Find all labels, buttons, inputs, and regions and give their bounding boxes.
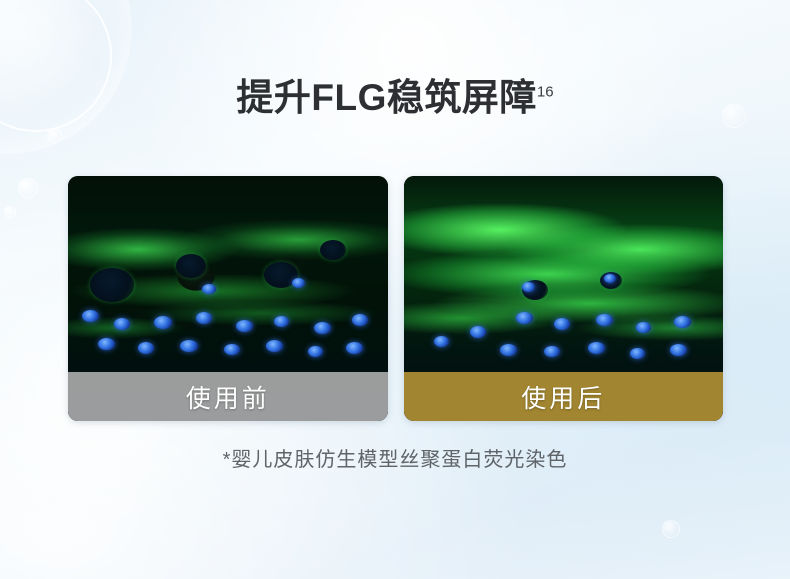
page-title-text: 提升FLG稳筑屏障 bbox=[236, 77, 536, 118]
caption-bar-after: 使用后 bbox=[404, 372, 724, 421]
cell-nucleus bbox=[500, 344, 517, 356]
cell-nucleus bbox=[470, 326, 486, 338]
cell-nucleus bbox=[544, 346, 560, 357]
bubble-large-icon bbox=[0, 0, 132, 154]
cell-nucleus bbox=[674, 316, 691, 328]
cell-nucleus bbox=[636, 322, 651, 333]
footnote: *婴儿皮肤仿生模型丝聚蛋白荧光染色 bbox=[0, 443, 790, 472]
cell-nucleus bbox=[522, 282, 535, 292]
cell-nucleus bbox=[352, 314, 368, 326]
cell-nucleus bbox=[596, 314, 613, 326]
cell-vacuole bbox=[90, 268, 134, 302]
bubble-small-icon bbox=[4, 206, 16, 218]
cell-nucleus bbox=[670, 344, 687, 356]
cell-nucleus bbox=[314, 322, 331, 334]
cell-nucleus bbox=[224, 344, 240, 355]
cell-nucleus bbox=[154, 316, 172, 329]
cell-nucleus bbox=[554, 318, 570, 330]
caption-after-label: 使用后 bbox=[521, 379, 605, 415]
bubble-small-icon bbox=[18, 178, 38, 198]
cell-nucleus bbox=[180, 340, 198, 352]
cell-nucleus bbox=[114, 318, 130, 330]
panel-after: 使用后 bbox=[404, 176, 724, 421]
cell-nucleus bbox=[196, 312, 212, 324]
cell-vacuole bbox=[522, 280, 548, 300]
cell-nucleus bbox=[82, 310, 99, 322]
cell-nucleus bbox=[630, 348, 645, 359]
cell-vacuole bbox=[264, 262, 298, 288]
promo-image-root: 提升FLG稳筑屏障16 bbox=[0, 0, 790, 579]
cell-nucleus bbox=[98, 338, 115, 350]
page-title-superscript: 16 bbox=[537, 84, 554, 101]
panel-before: 使用前 bbox=[68, 176, 388, 421]
cell-nucleus bbox=[434, 336, 449, 347]
comparison-panels: 使用前 bbox=[68, 176, 723, 421]
cell-nucleus bbox=[516, 312, 533, 324]
cell-nucleus bbox=[138, 342, 154, 354]
cell-nucleus bbox=[308, 346, 323, 357]
cell-nucleus bbox=[266, 340, 283, 352]
cell-nucleus bbox=[274, 316, 289, 327]
caption-bar-before: 使用前 bbox=[68, 372, 388, 421]
page-title: 提升FLG稳筑屏障16 bbox=[0, 78, 790, 119]
cell-nucleus bbox=[236, 320, 253, 332]
cell-vacuole bbox=[600, 272, 622, 289]
cell-nucleus bbox=[202, 284, 216, 294]
cell-nucleus bbox=[292, 278, 305, 288]
cell-vacuole bbox=[320, 240, 346, 260]
cell-nucleus bbox=[588, 342, 605, 354]
cell-nucleus bbox=[346, 342, 363, 354]
caption-before-label: 使用前 bbox=[186, 379, 270, 415]
bubble-small-icon bbox=[47, 128, 62, 143]
bubble-small-icon bbox=[662, 520, 680, 538]
cell-nucleus bbox=[604, 274, 616, 283]
cell-vacuole bbox=[176, 254, 206, 278]
